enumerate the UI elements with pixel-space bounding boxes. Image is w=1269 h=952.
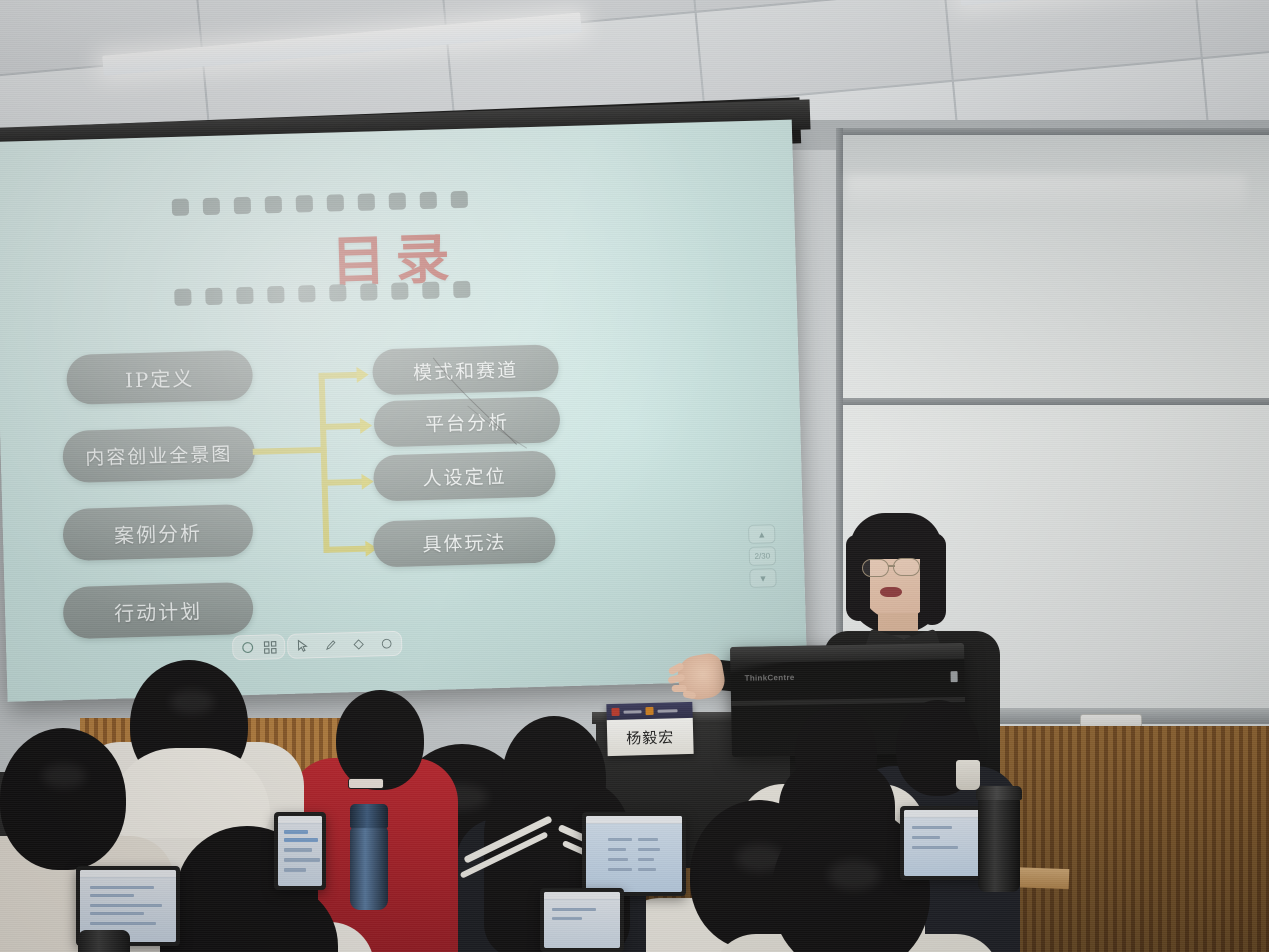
pen-icon[interactable] bbox=[322, 637, 339, 654]
student-head bbox=[0, 728, 126, 870]
connector-branch-4 bbox=[323, 546, 367, 553]
institution-logo-b bbox=[645, 707, 653, 715]
eraser-icon[interactable] bbox=[350, 636, 367, 653]
connector-trunk-horizontal bbox=[253, 447, 327, 455]
shape-circle-icon[interactable] bbox=[378, 635, 395, 652]
whiteboard-frame-mid bbox=[836, 398, 1269, 405]
laptop-3[interactable] bbox=[582, 812, 686, 896]
name-placard: 杨毅宏 bbox=[606, 702, 693, 756]
institution-logo-a bbox=[611, 708, 619, 716]
presenter-mouth bbox=[880, 587, 902, 597]
pill-label: 案例分析 bbox=[114, 517, 203, 548]
page-down-button[interactable]: ▼ bbox=[749, 568, 777, 588]
paper-cup bbox=[956, 760, 980, 790]
slide-canvas: 目录 IP定义 内容创业全景图 案例分析 行动计划 bbox=[0, 120, 807, 702]
slide-page-nav[interactable]: ▲ 2/30 ▼ bbox=[748, 524, 777, 588]
annotation-toolbar-left[interactable] bbox=[232, 634, 286, 660]
laptop-screen bbox=[278, 816, 322, 886]
eyeglasses-bridge bbox=[888, 565, 895, 567]
slide-pill-ip-definition[interactable]: IP定义 bbox=[66, 350, 253, 405]
connector-branch-3 bbox=[322, 479, 364, 486]
pill-label: IP定义 bbox=[125, 362, 195, 393]
classroom-photo: 目录 IP定义 内容创业全景图 案例分析 行动计划 bbox=[0, 0, 1269, 952]
decorative-squares-top bbox=[172, 191, 468, 216]
water-bottle-2 bbox=[78, 930, 130, 952]
laptop-screen bbox=[544, 892, 620, 948]
laptop-4[interactable] bbox=[900, 806, 986, 880]
bottle-cap-1 bbox=[350, 804, 388, 828]
projection-screen: 目录 IP定义 内容创业全景图 案例分析 行动计划 bbox=[0, 120, 807, 702]
tumbler-lid bbox=[976, 786, 1022, 800]
slide-pill-content-landscape[interactable]: 内容创业全景图 bbox=[62, 426, 255, 483]
app-toolbar bbox=[904, 810, 982, 818]
placard-name: 杨毅宏 bbox=[607, 718, 694, 756]
connector-branch-2 bbox=[320, 423, 362, 430]
eyeglasses-left-lens bbox=[862, 559, 889, 577]
monitor-power-indicator bbox=[951, 671, 958, 682]
slide-pill-action-plan[interactable]: 行动计划 bbox=[62, 582, 253, 639]
tumbler-black bbox=[978, 796, 1020, 892]
connector-arrow-3 bbox=[361, 473, 373, 489]
slide-pill-case-analysis[interactable]: 案例分析 bbox=[62, 504, 253, 561]
app-toolbar bbox=[586, 816, 682, 824]
jacket-logo-patch bbox=[348, 778, 384, 789]
water-bottle-1 bbox=[350, 826, 388, 910]
stray-scribble-mark bbox=[428, 352, 551, 475]
monitor-bezel bbox=[730, 643, 964, 663]
whiteboard-frame-top bbox=[836, 128, 1269, 135]
eyeglasses-right-lens bbox=[893, 558, 920, 576]
connector-arrow-1 bbox=[356, 367, 368, 383]
laptop-screen bbox=[586, 816, 682, 892]
laptop-screen bbox=[904, 810, 982, 876]
app-toolbar bbox=[80, 870, 176, 878]
qr-grid-icon[interactable] bbox=[261, 638, 278, 655]
app-toolbar bbox=[544, 892, 620, 900]
connector-trunk-vertical bbox=[319, 373, 330, 553]
app-toolbar bbox=[278, 816, 322, 824]
student-head bbox=[336, 690, 424, 790]
page-up-button[interactable]: ▲ bbox=[748, 524, 776, 544]
slide-pill-concrete-tactics[interactable]: 具体玩法 bbox=[373, 516, 556, 567]
presenter-hair-right bbox=[920, 533, 946, 625]
presenter-hair-left bbox=[846, 535, 870, 621]
shape-icon[interactable] bbox=[239, 639, 256, 656]
page-counter: 2/30 bbox=[749, 546, 777, 566]
laptop-5[interactable] bbox=[540, 888, 624, 952]
connector-branch-1 bbox=[319, 372, 359, 379]
connector-arrow-2 bbox=[360, 418, 372, 434]
annotation-toolbar-tools[interactable] bbox=[287, 631, 403, 659]
pill-label: 具体玩法 bbox=[422, 527, 507, 556]
cursor-icon[interactable] bbox=[294, 637, 311, 654]
monitor-brand-label: ThinkCentre bbox=[745, 673, 795, 683]
whiteboard-sheen bbox=[846, 175, 1246, 215]
pill-label: 行动计划 bbox=[114, 595, 203, 626]
laptop-2[interactable] bbox=[274, 812, 326, 890]
pill-label: 内容创业全景图 bbox=[85, 439, 233, 470]
